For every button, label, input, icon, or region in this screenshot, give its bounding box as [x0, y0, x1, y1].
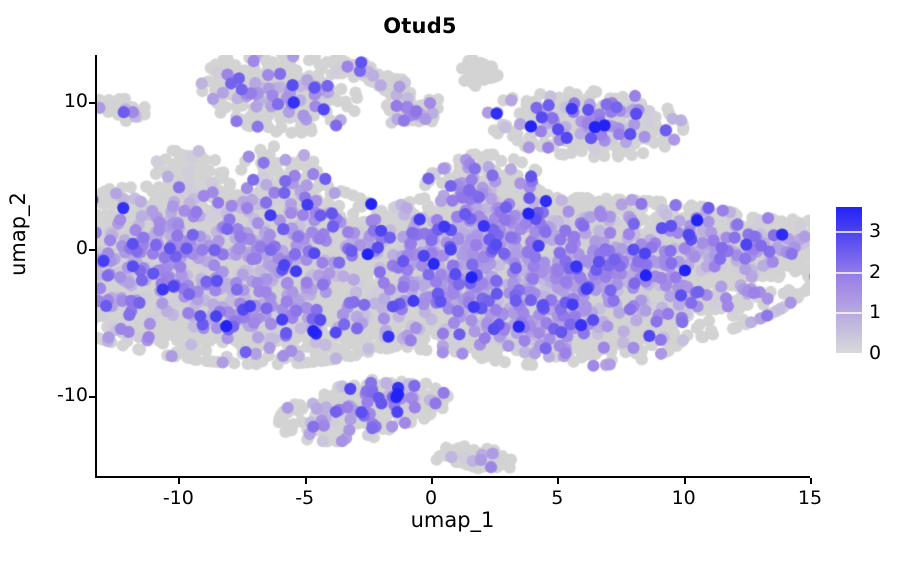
colorbar-tick-mark: [836, 231, 862, 233]
y-tick-label: -10: [8, 386, 98, 405]
x-tick-mark: [431, 478, 433, 484]
umap-feature-plot: Otud5 -10-5051015 -10010 umap_1 umap_2 0…: [0, 0, 911, 562]
colorbar-tick-label: 3: [869, 222, 881, 241]
page-title: Otud5: [0, 14, 840, 38]
x-tick-label: 15: [780, 487, 840, 509]
x-tick-mark: [305, 478, 307, 484]
x-tick-label: -5: [275, 487, 335, 509]
y-axis-spine: [95, 55, 97, 478]
x-tick-label: 10: [654, 487, 714, 509]
x-tick-mark: [810, 478, 812, 484]
x-tick-mark: [557, 478, 559, 484]
x-tick-mark: [684, 478, 686, 484]
expression-colorbar: 0123: [836, 207, 911, 353]
colorbar-tick-mark: [836, 312, 862, 314]
colorbar-tick-label: 1: [869, 303, 881, 322]
x-tick-label: 5: [527, 487, 587, 509]
x-axis-spine: [95, 476, 810, 478]
colorbar-tick-label: 0: [869, 344, 881, 363]
x-axis-label: umap_1: [95, 508, 810, 532]
plot-axes: -10-5051015 -10010: [95, 55, 810, 478]
y-axis-label: umap_2: [6, 154, 30, 314]
colorbar-gradient: [836, 207, 862, 353]
colorbar-tick-label: 2: [869, 263, 881, 282]
scatter-points-layer: [95, 55, 810, 478]
x-tick-mark: [178, 478, 180, 484]
x-tick-label: -10: [148, 487, 208, 509]
colorbar-tick-mark: [836, 272, 862, 274]
y-tick-label: 10: [8, 92, 98, 111]
x-tick-label: 0: [401, 487, 461, 509]
